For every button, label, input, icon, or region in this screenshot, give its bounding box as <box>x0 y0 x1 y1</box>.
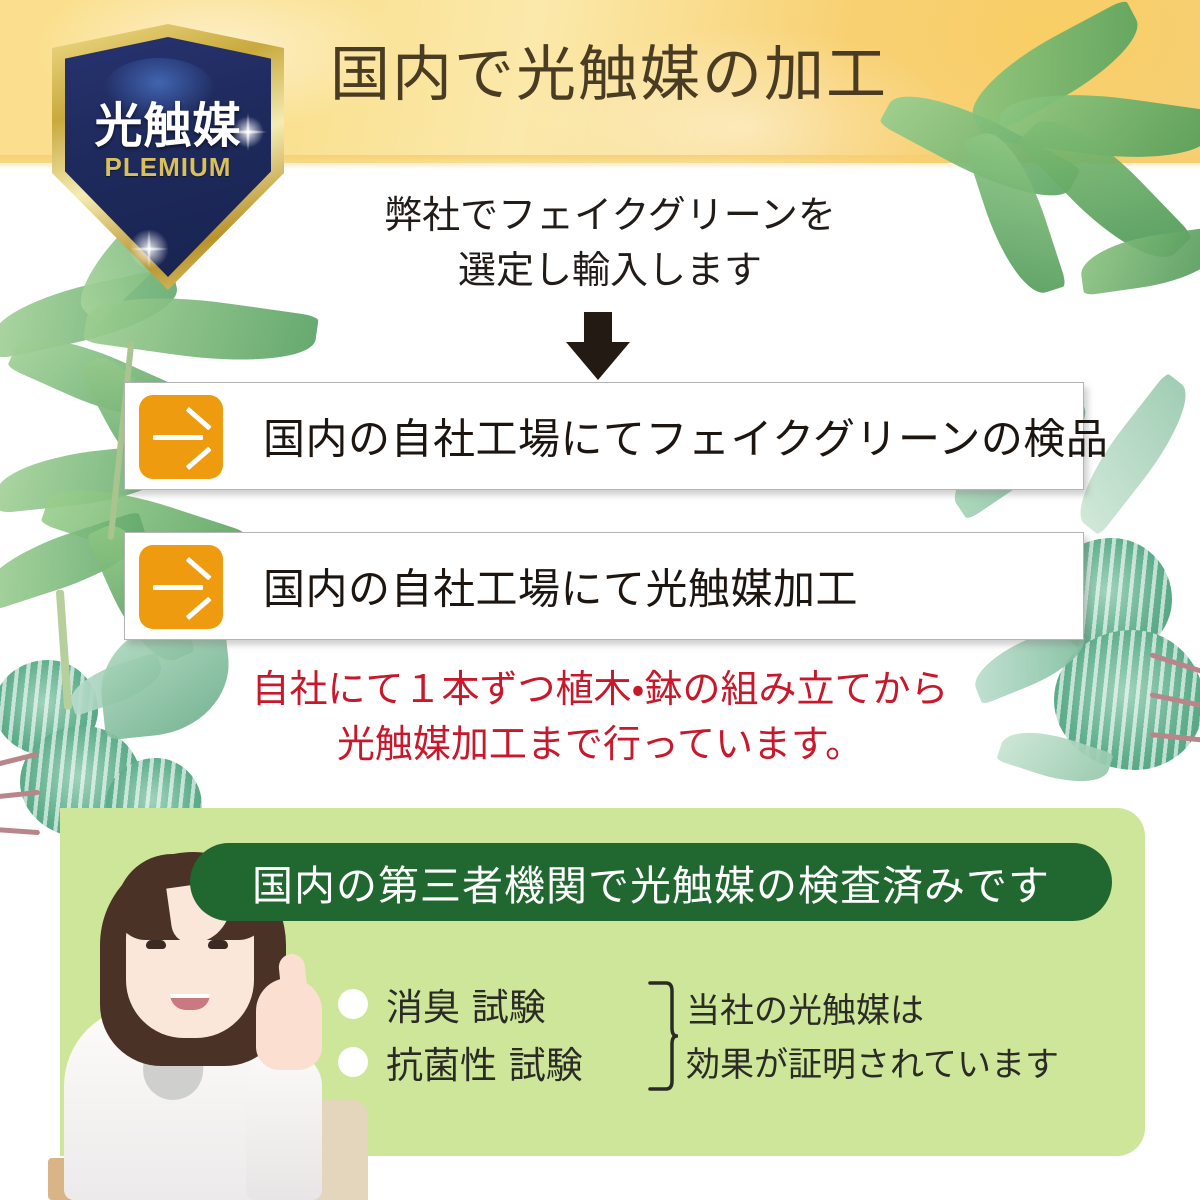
arrow-head-bottom <box>186 597 212 620</box>
arrow-head-bottom <box>186 447 212 470</box>
test-list: 消臭 試験 抗菌性 試験 <box>338 978 648 1094</box>
arrow-shaft <box>153 435 203 440</box>
arrow-head-top <box>186 557 212 580</box>
certification-banner: 国内の第三者機関で光触媒の検査済みです <box>190 843 1112 921</box>
step-label-2: 国内の自社工場にて光触媒加工 <box>263 556 858 617</box>
red-note-line-1: 自社にて１本ずつ植木・鉢の組み立てから <box>180 662 1020 717</box>
bullet-icon <box>338 989 368 1019</box>
sparkle-icon <box>114 214 184 284</box>
infographic-page: 光触媒 PLEMIUM 国内で光触媒の加工 弊社でフェイクグリーンを 選定し輸入… <box>0 0 1200 1200</box>
list-item: 抗菌性 試験 <box>338 1036 648 1088</box>
step-row-2: 国内の自社工場にて光触媒加工 <box>124 532 1084 640</box>
red-note-line-2: 光触媒加工まで行っています。 <box>180 717 1020 772</box>
bullet-icon <box>338 1047 368 1077</box>
arm <box>246 1052 322 1200</box>
proof-line-2: 効果が証明されています <box>686 1038 1116 1092</box>
intro-text: 弊社でフェイクグリーンを 選定し輸入します <box>300 188 920 298</box>
test-label-2: 抗菌性 試験 <box>386 1035 583 1089</box>
step-label-1: 国内の自社工場にてフェイクグリーンの検品 <box>263 406 1108 467</box>
list-item: 消臭 試験 <box>338 978 648 1030</box>
brace-icon <box>646 980 678 1092</box>
proof-line-1: 当社の光触媒は <box>686 984 1116 1038</box>
page-title: 国内で光触媒の加工 <box>330 42 970 108</box>
thumb <box>278 953 309 1003</box>
arrow-right-icon <box>139 545 223 629</box>
arrow-shaft <box>153 585 203 590</box>
arrow-right-icon <box>139 395 223 479</box>
eye-left <box>146 940 166 949</box>
stem <box>0 826 40 835</box>
red-emphasis-note: 自社にて１本ずつ植木・鉢の組み立てから 光触媒加工まで行っています。 <box>180 662 1020 772</box>
arrow-down-head <box>566 342 630 380</box>
sparkle-icon <box>220 104 276 160</box>
step-row-1: 国内の自社工場にてフェイクグリーンの検品 <box>124 382 1084 490</box>
intro-line-1: 弊社でフェイクグリーンを <box>300 188 920 243</box>
proof-text: 当社の光触媒は 効果が証明されています <box>686 984 1116 1093</box>
arrow-head-top <box>186 407 212 430</box>
certification-banner-text: 国内の第三者機関で光触媒の検査済みです <box>252 852 1050 912</box>
photocatalyst-badge: 光触媒 PLEMIUM <box>52 24 284 290</box>
intro-line-2: 選定し輸入します <box>300 243 920 298</box>
test-label-1: 消臭 試験 <box>386 977 546 1031</box>
arrow-down-icon <box>566 312 630 378</box>
eye-right <box>208 940 228 949</box>
